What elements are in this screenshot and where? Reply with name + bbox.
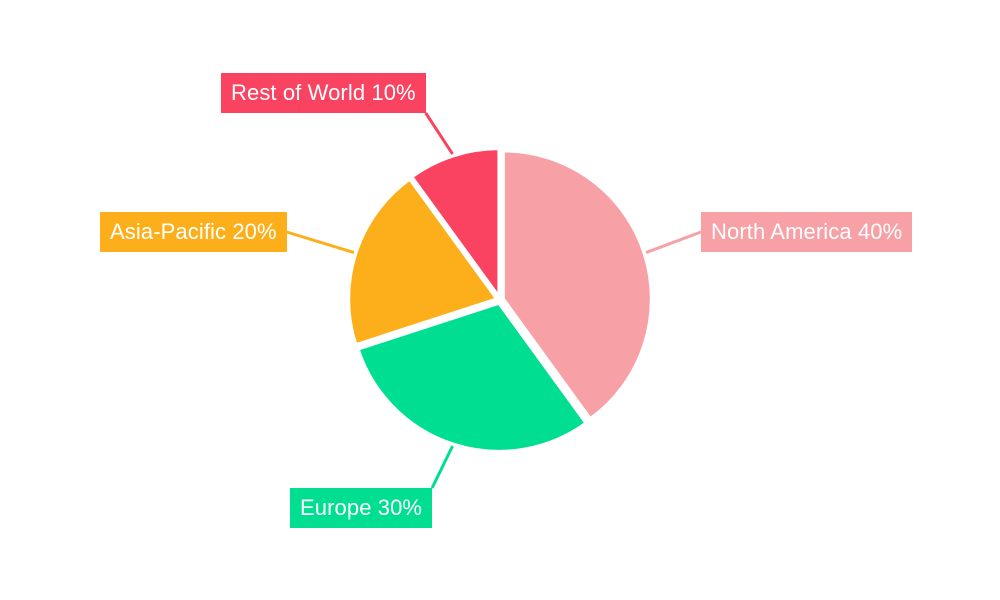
pie-chart-canvas (0, 0, 1000, 600)
leader-line-asia-pacific (287, 232, 354, 253)
leader-line-rest-of-world (426, 113, 453, 154)
pie-chart-figure: North America 40% Europe 30% Asia-Pacifi… (0, 0, 1000, 600)
pie-label-rest-of-world: Rest of World 10% (221, 73, 426, 113)
leader-line-north-america (646, 232, 701, 253)
pie-label-europe: Europe 30% (290, 488, 432, 528)
pie-label-asia-pacific: Asia-Pacific 20% (100, 212, 287, 252)
pie-label-north-america: North America 40% (701, 212, 912, 252)
pie-slices (349, 149, 652, 452)
leader-line-europe (432, 446, 452, 488)
